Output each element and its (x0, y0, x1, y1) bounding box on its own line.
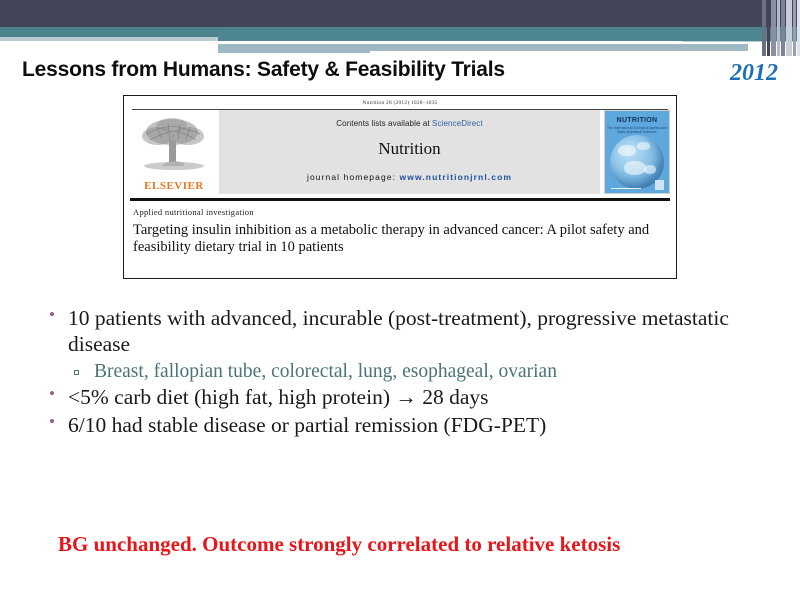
vstripe-6 (786, 0, 792, 56)
journal-divider-rule (130, 198, 670, 201)
cover-subtitle: The International Journal of Applied and… (605, 126, 669, 134)
homepage-url: www.nutritionjrnl.com (400, 172, 513, 182)
vstripe-7 (793, 0, 796, 56)
slide-canvas: Lessons from Humans: Safety & Feasibilit… (0, 0, 800, 600)
journal-homepage-line: journal homepage: www.nutritionjrnl.com (219, 172, 600, 182)
bullet-item-4: 6/10 had stable disease or partial remis… (46, 413, 762, 439)
vstripe-3 (771, 0, 776, 56)
journal-name: Nutrition (219, 139, 600, 159)
elsevier-wordmark: ELSEVIER (134, 180, 214, 192)
article-title: Targeting insulin inhibition as a metabo… (133, 222, 667, 256)
sciencedirect-line: Contents lists available at ScienceDirec… (219, 110, 600, 128)
vstripe-4 (777, 0, 780, 56)
slide-title: Lessons from Humans: Safety & Feasibilit… (22, 58, 505, 82)
journal-citation: Nutrition 28 (2012) 1028–1035 (124, 96, 676, 106)
header-band-dark (0, 0, 800, 27)
journal-article-figure: Nutrition 28 (2012) 1028–1035 (123, 95, 677, 279)
cover-title: NUTRITION (605, 117, 669, 124)
header-vertical-stripes (762, 0, 800, 56)
homepage-label: journal homepage: (307, 172, 400, 182)
bullet-list: 10 patients with advanced, incurable (po… (46, 306, 762, 441)
vstripe-2 (767, 0, 770, 56)
cover-publisher-mark (655, 180, 664, 190)
vstripe-1 (762, 0, 766, 56)
header-band-pale-left (0, 46, 218, 53)
header-band-white-right (370, 51, 748, 56)
header-band-teal-right (218, 30, 800, 41)
bullet-item-3: <5% carb diet (high fat, high protein) →… (46, 385, 762, 411)
sciencedirect-brand: ScienceDirect (432, 119, 483, 128)
elsevier-logo-block: ELSEVIER (130, 110, 219, 194)
elsevier-tree-icon (136, 114, 212, 174)
journal-cover-thumbnail: NUTRITION The International Journal of A… (604, 110, 670, 194)
journal-center-panel: Contents lists available at ScienceDirec… (219, 110, 600, 194)
slide-year-label: 2012 (730, 60, 778, 87)
conclusion-text: BG unchanged. Outcome strongly correlate… (58, 532, 758, 558)
cover-footer-rule (611, 188, 641, 189)
bullet-item-1: 10 patients with advanced, incurable (po… (46, 306, 762, 358)
bullet-item-2: Breast, fallopian tube, colorectal, lung… (46, 360, 762, 383)
contents-list-label: Contents lists available at (336, 119, 432, 128)
article-section-label: Applied nutritional investigation (133, 207, 676, 217)
vstripe-5 (781, 0, 785, 56)
journal-masthead: ELSEVIER Contents lists available at Sci… (130, 110, 670, 194)
